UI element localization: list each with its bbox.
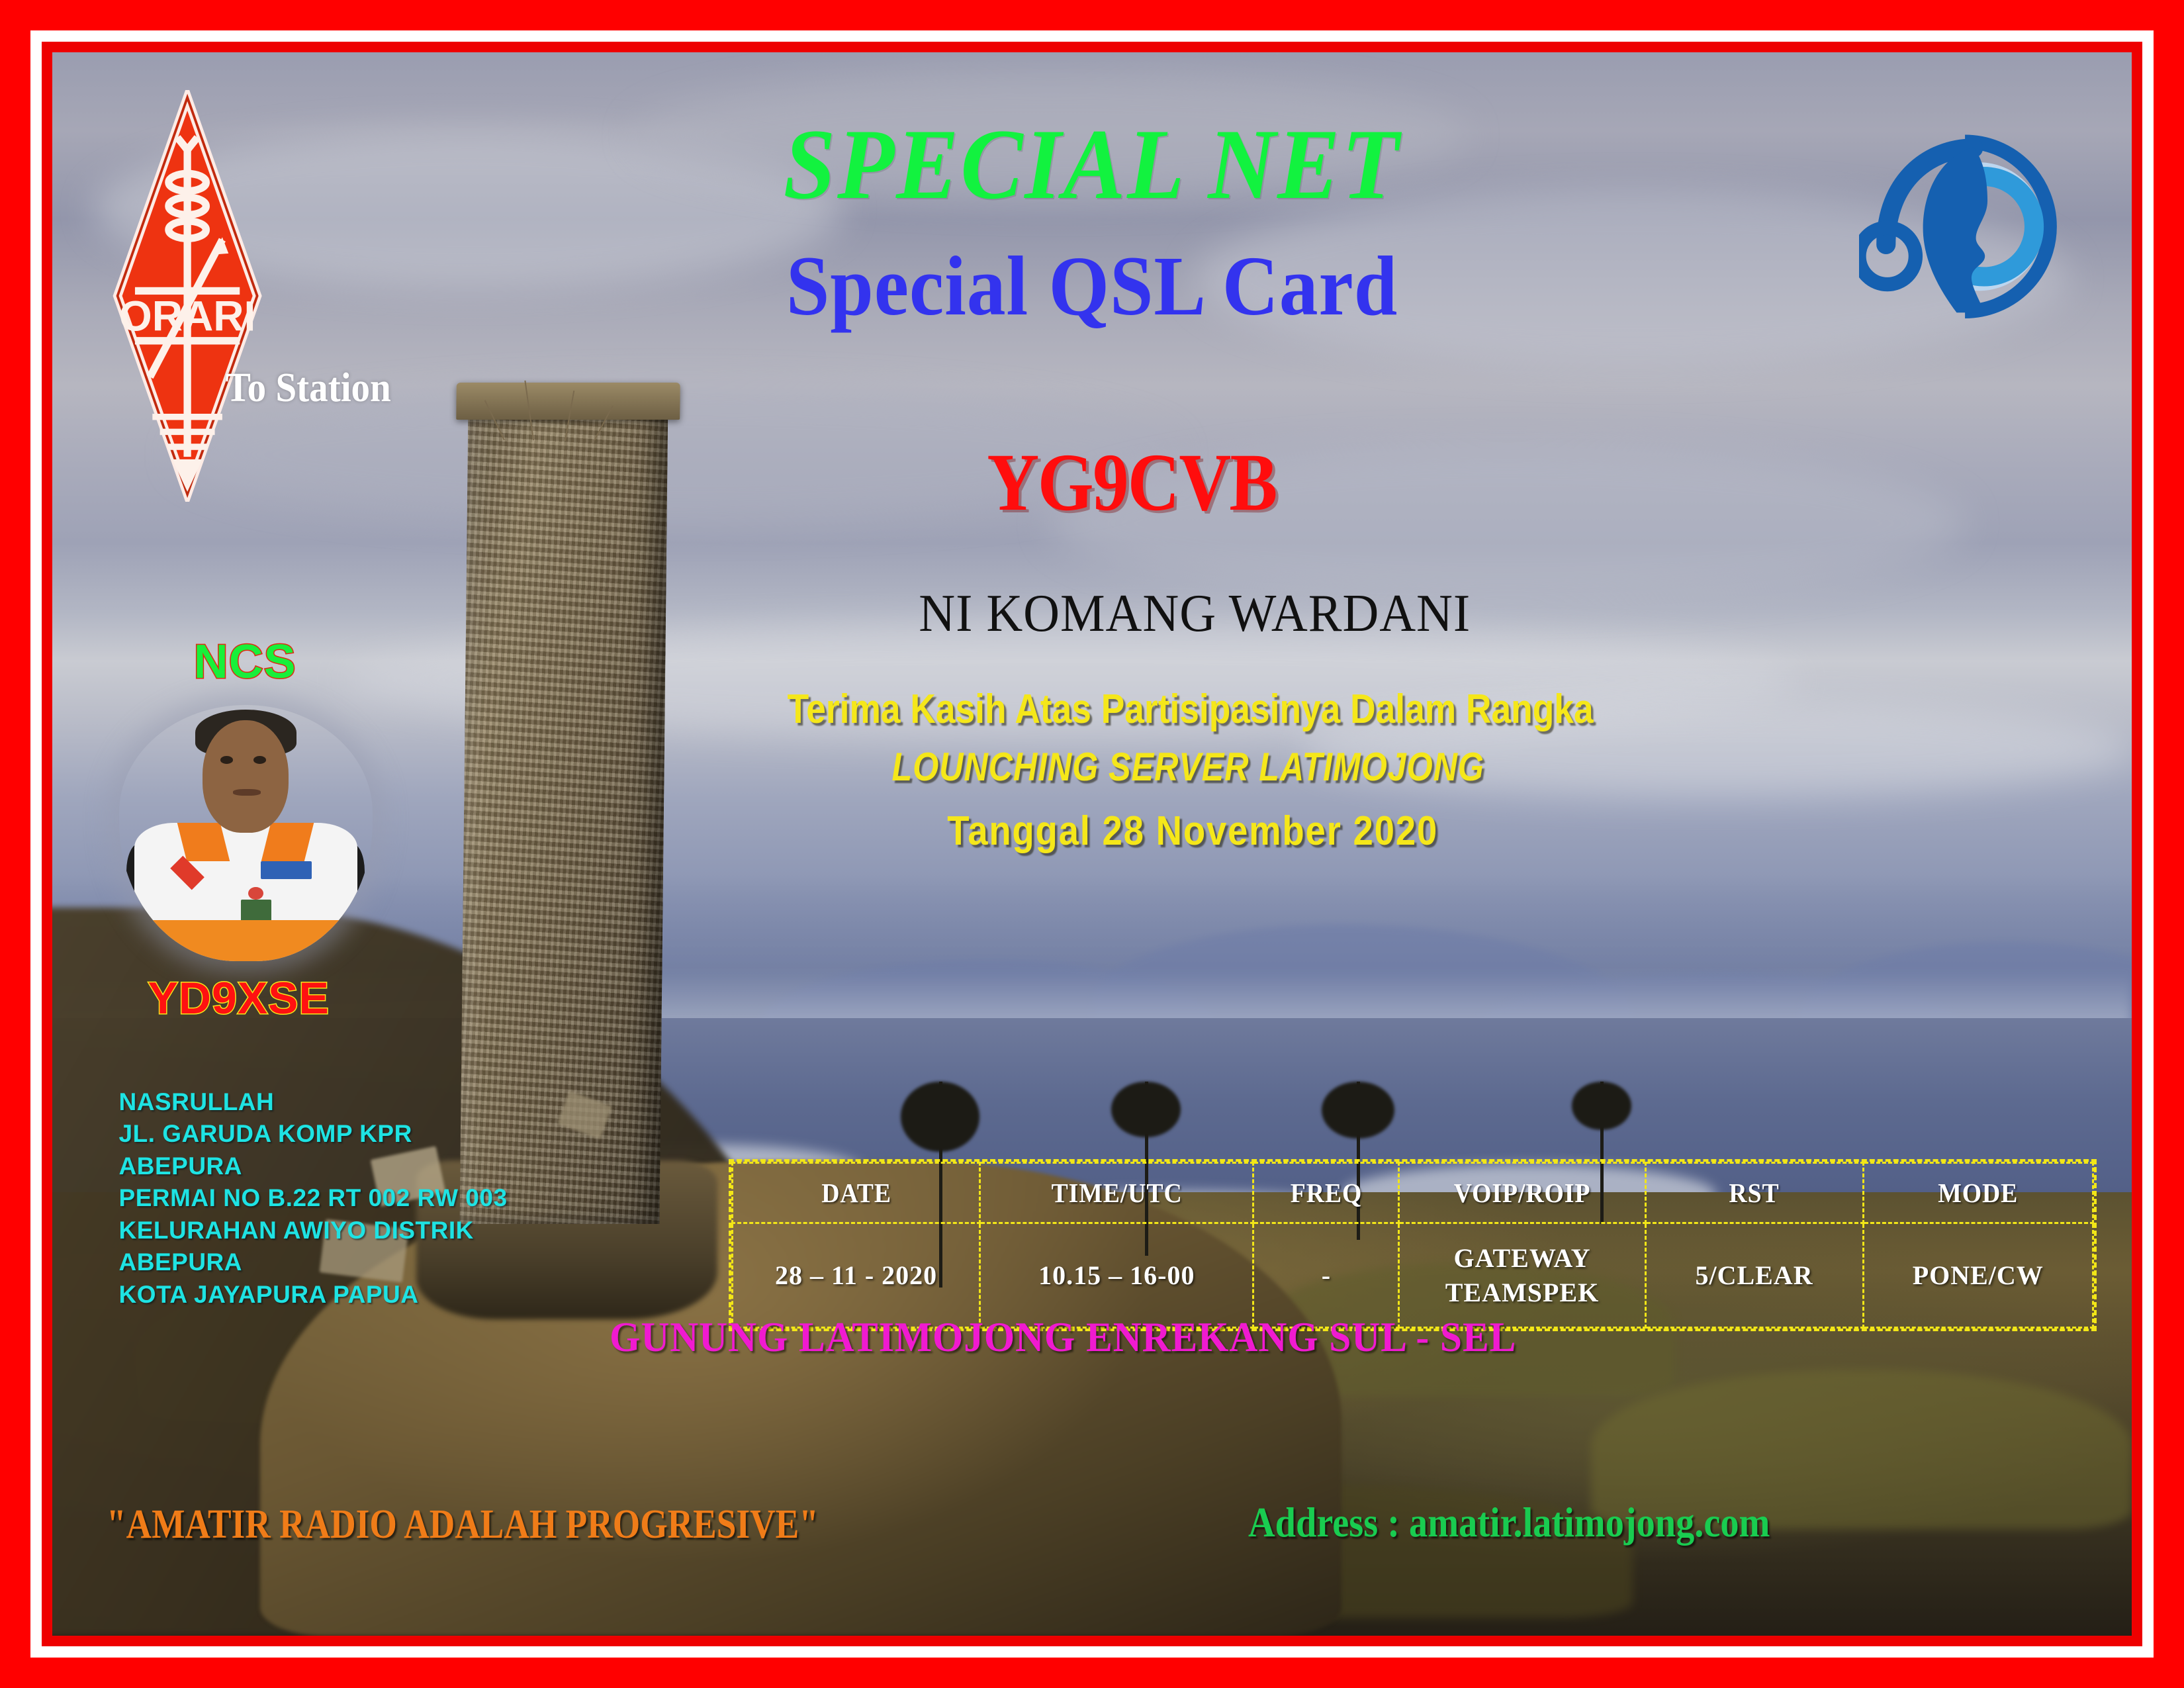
message-line-1: Terima Kasih Atas Partisipasinya Dalam R…: [296, 689, 2085, 730]
footer-web-address: Address : amatir.latimojong.com: [1248, 1501, 1770, 1544]
operator-name: NI KOMANG WARDANI: [207, 587, 2132, 640]
card-white-gap: ORARI: [30, 30, 2154, 1658]
cell-voip-line2: TEAMSPEK: [1400, 1276, 1643, 1309]
cell-voip: GATEWAY TEAMSPEK: [1399, 1223, 1645, 1328]
location-caption: GUNUNG LATIMOJONG ENREKANG SUL - SEL: [96, 1316, 2030, 1358]
cell-date: 28 – 11 - 2020: [733, 1223, 980, 1328]
table-header-time: TIME/UTC: [991, 1163, 1242, 1223]
photo-eye-left: [220, 756, 233, 764]
table-header-freq: FREQ: [1259, 1163, 1393, 1223]
qsl-card: ORARI: [0, 0, 2184, 1688]
table-header-rst: RST: [1654, 1163, 1854, 1223]
cell-mode: PONE/CW: [1863, 1223, 2093, 1328]
ncs-label: NCS: [194, 638, 296, 686]
table-header-row: DATE TIME/UTC FREQ VOIP/ROIP RST MODE: [733, 1163, 2093, 1223]
address-line: KELURAHAN AWIYO DISTRIK: [119, 1215, 508, 1246]
table-row: 28 – 11 - 2020 10.15 – 16-00 - GATEWAY T…: [733, 1223, 2093, 1328]
cell-time: 10.15 – 16-00: [980, 1223, 1253, 1328]
address-line: PERMAI NO B.22 RT 002 RW 003: [119, 1182, 508, 1214]
table-header-voip: VOIP/ROIP: [1409, 1163, 1635, 1223]
to-station-label: To Station: [226, 367, 391, 408]
background-photo: ORARI: [52, 52, 2132, 1636]
monument-twigs: [489, 377, 635, 440]
cell-freq: -: [1253, 1223, 1399, 1328]
photo-id-clip: [248, 887, 263, 900]
photo-eye-right: [253, 756, 266, 764]
address-line: ABEPURA: [119, 1246, 508, 1278]
card-inner-red-border: ORARI: [42, 42, 2142, 1646]
station-address: NASRULLAH JL. GARUDA KOMP KPR ABEPURA PE…: [119, 1086, 508, 1311]
address-line: JL. GARUDA KOMP KPR: [119, 1118, 508, 1150]
address-line: KOTA JAYAPURA PAPUA: [119, 1279, 508, 1311]
photo-face: [203, 720, 289, 833]
qso-log-table: DATE TIME/UTC FREQ VOIP/ROIP RST MODE 28…: [729, 1159, 2097, 1331]
address-line: ABEPURA: [119, 1150, 508, 1182]
station-callsign: YG9CVB: [986, 442, 1277, 524]
ncs-operator-photo: [119, 705, 373, 962]
message-line-2: LOUNCHING SERVER LATIMOJONG: [315, 747, 2062, 787]
photo-mouth: [233, 789, 261, 796]
page-subtitle: Special QSL Card: [136, 244, 2049, 328]
address-line: NASRULLAH: [119, 1086, 508, 1118]
page-title: SPECIAL NET: [125, 114, 2059, 214]
photo-badge-right: [261, 861, 312, 879]
cell-voip-line1: GATEWAY: [1400, 1241, 1643, 1275]
message-line-3: Tanggal 28 November 2020: [278, 811, 2108, 852]
table-header-mode: MODE: [1872, 1163, 2084, 1223]
footer-motto: "AMATIR RADIO ADALAH PROGRESIVE": [107, 1504, 819, 1545]
cell-rst: 5/CLEAR: [1645, 1223, 1863, 1328]
photo-orange-sash: [139, 920, 352, 961]
ncs-callsign: YD9XSE: [148, 976, 330, 1021]
table-header-date: DATE: [742, 1163, 970, 1223]
